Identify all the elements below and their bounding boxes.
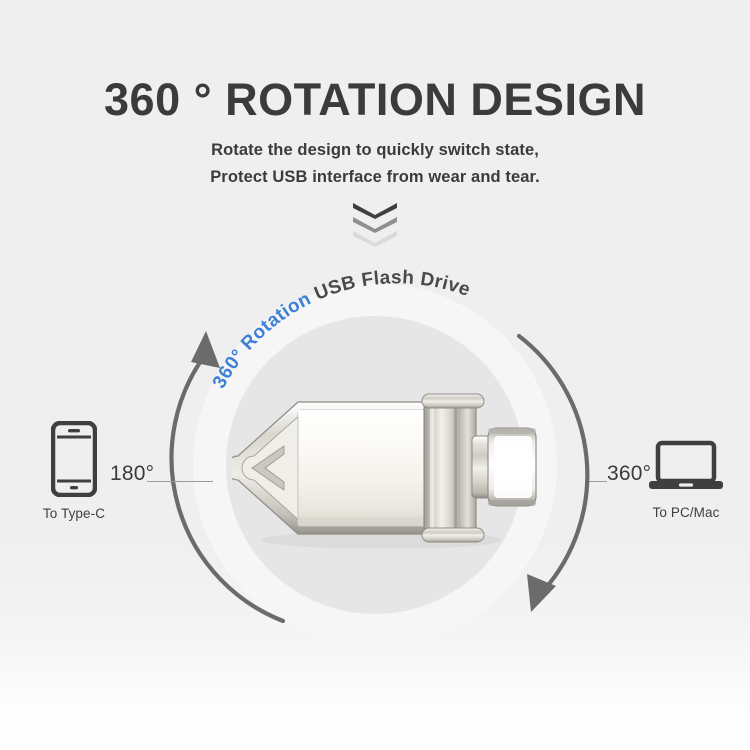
right-lead-line <box>589 481 607 482</box>
smartphone-icon <box>51 421 97 497</box>
right-device-caption: To PC/Mac <box>653 505 720 520</box>
drive-body <box>298 410 426 526</box>
curved-label-blue: 360° Rotation <box>209 288 315 392</box>
left-device-caption: To Type-C <box>43 506 105 521</box>
right-device-group: To PC/Mac <box>640 440 732 520</box>
left-device-group: To Type-C <box>30 421 118 521</box>
usb-flash-drive <box>232 388 538 548</box>
curved-label-text: 360° Rotation USB Flash Drive <box>209 267 473 392</box>
curved-product-label: 360° Rotation USB Flash Drive <box>0 0 750 750</box>
left-degree-label: 180° <box>110 462 154 486</box>
right-degree-label: 360° <box>607 462 651 486</box>
product-stage: 360° Rotation USB Flash Drive <box>0 0 750 750</box>
curved-label-gray: USB Flash Drive <box>312 267 473 304</box>
laptop-icon <box>648 440 724 496</box>
type-c-connector <box>472 428 536 506</box>
infographic-page: 360 ° ROTATION DESIGN Rotate the design … <box>0 0 750 750</box>
left-lead-line <box>147 481 213 482</box>
